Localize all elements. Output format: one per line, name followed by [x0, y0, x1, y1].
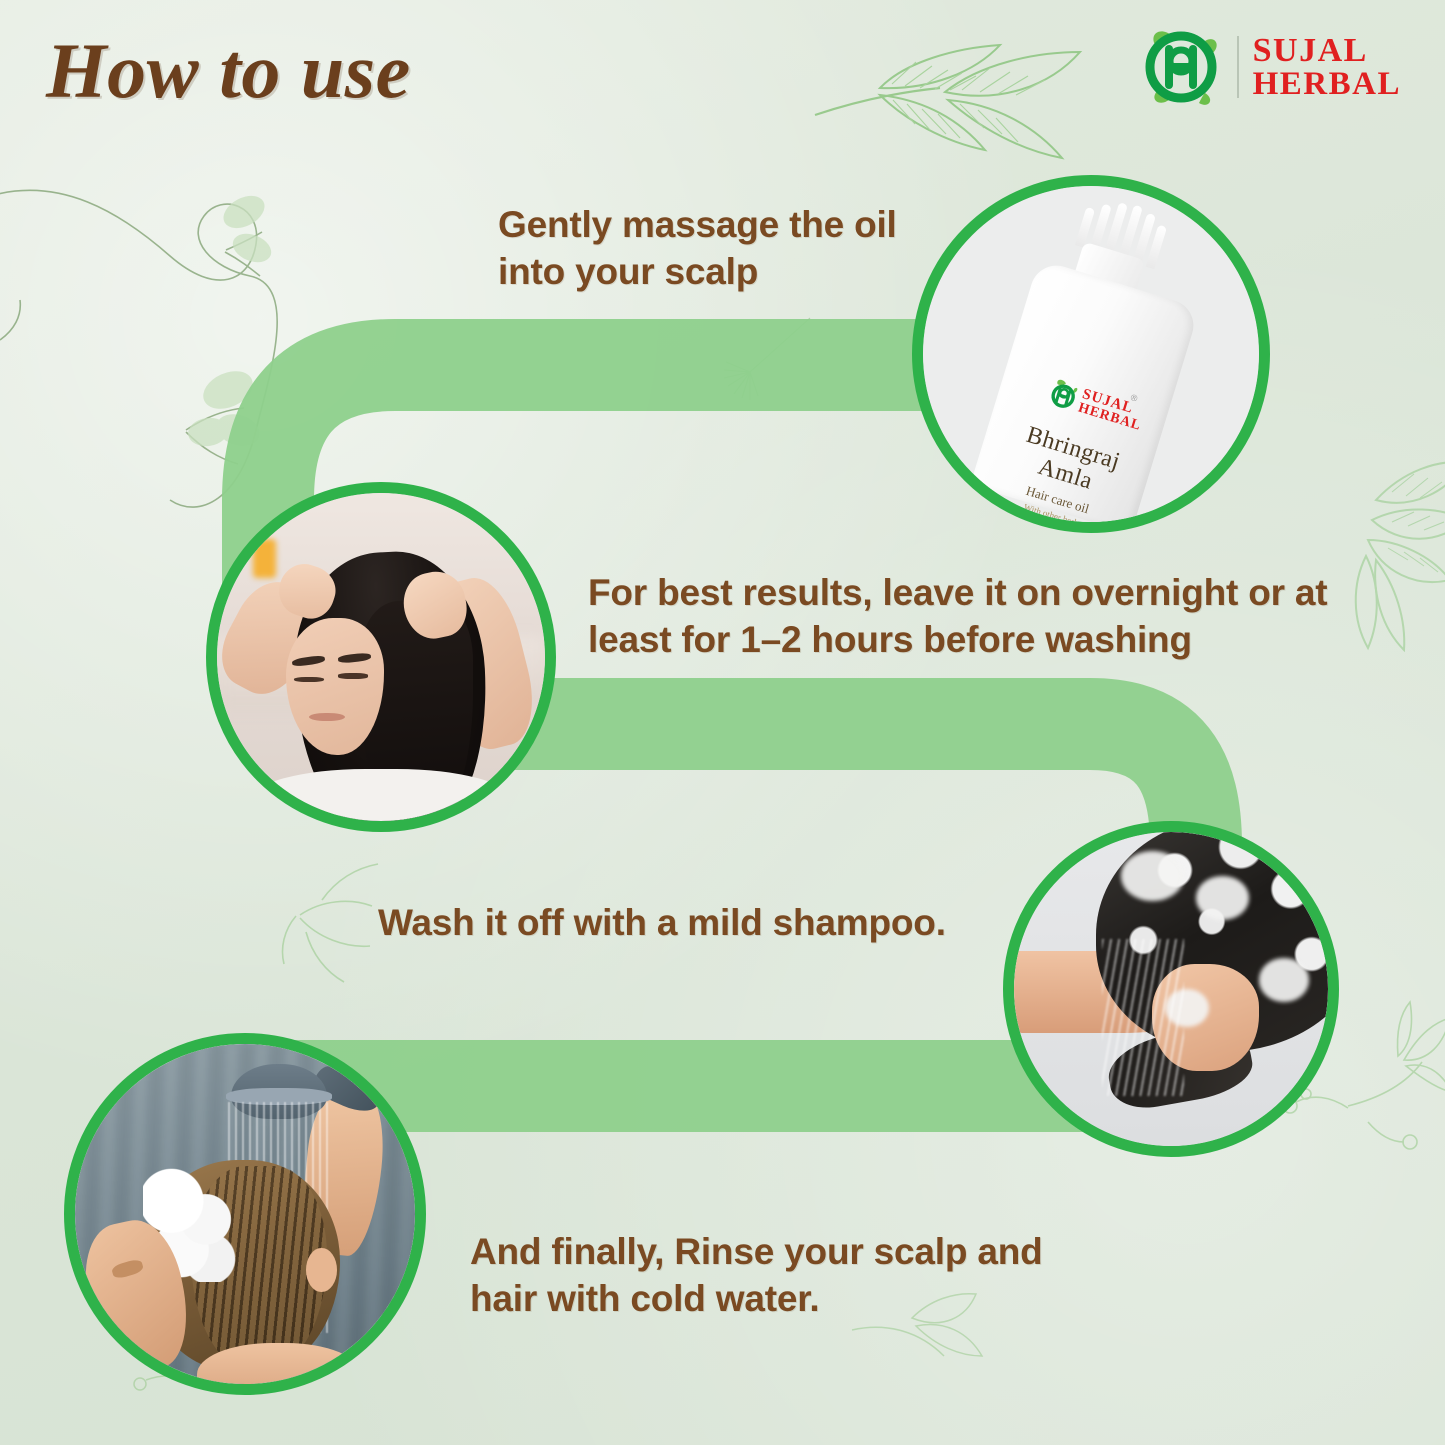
step-1-text: Gently massage the oil into your scalp [498, 201, 968, 296]
logo-divider [1237, 36, 1239, 98]
page-title: How to use [46, 26, 411, 116]
step-3-image-circle [1003, 821, 1339, 1157]
bottle-brand-lockup: SUJAL HERBAL [1047, 377, 1148, 434]
logo-line-2: HERBAL [1253, 68, 1401, 101]
sujal-herbal-monogram-icon [1139, 25, 1223, 109]
bottle-leaf-icon [1047, 377, 1081, 413]
product-bottle-photo: ® SUJAL HERBAL [923, 186, 1259, 522]
logo-wordmark: SUJAL HERBAL [1253, 34, 1401, 101]
brand-logo: SUJAL HERBAL [1139, 24, 1401, 110]
scalp-massage-photo [217, 493, 545, 821]
step-1-image-circle: ® SUJAL HERBAL [912, 175, 1270, 533]
step-2-image-circle [206, 482, 556, 832]
shampoo-lather-photo [1014, 832, 1328, 1146]
shower-rinse-photo [75, 1044, 415, 1384]
step-3-text: Wash it off with a mild shampoo. [378, 899, 1018, 946]
logo-line-1: SUJAL [1253, 34, 1401, 68]
infographic-poster: How to use SUJAL HERBAL G [0, 0, 1445, 1445]
bottle-product-name: Bhringraj Amla Hair care oil With other … [984, 416, 1144, 522]
step-4-text: And finally, Rinse your scalp and hair w… [470, 1228, 1090, 1323]
step-2-text: For best results, leave it on overnight … [588, 569, 1348, 664]
step-4-image-circle [64, 1033, 426, 1395]
